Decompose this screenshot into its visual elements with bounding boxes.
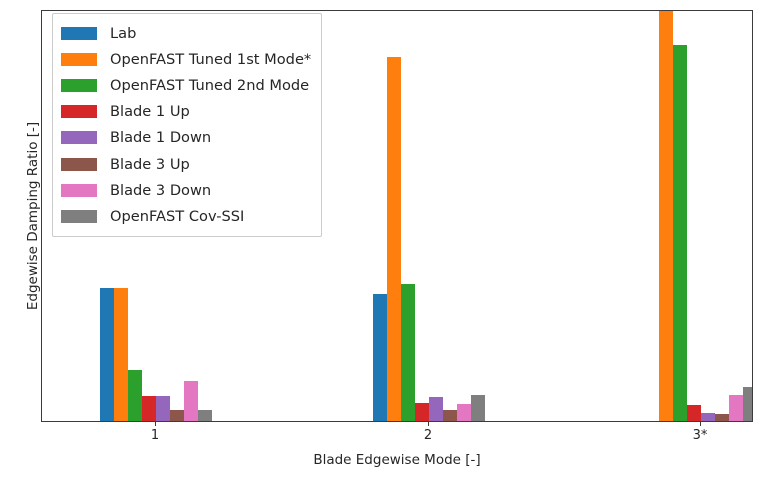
bar xyxy=(128,370,142,421)
legend-label: Blade 3 Up xyxy=(110,156,190,173)
legend-label: Blade 3 Down xyxy=(110,182,211,199)
x-tick-label: 1 xyxy=(125,428,185,443)
bar xyxy=(443,410,457,421)
x-tick-mark xyxy=(700,422,701,426)
bar xyxy=(142,396,156,421)
legend-swatch xyxy=(61,210,97,223)
bar xyxy=(659,11,673,421)
bar xyxy=(687,405,701,421)
legend-label: OpenFAST Tuned 2nd Mode xyxy=(110,77,309,94)
legend-entry: Blade 3 Up xyxy=(61,151,311,177)
legend-label: Blade 1 Up xyxy=(110,103,190,120)
x-tick-mark xyxy=(428,422,429,426)
x-axis-label: Blade Edgewise Mode [-] xyxy=(41,452,753,468)
bar xyxy=(701,413,715,421)
legend-swatch xyxy=(61,158,97,171)
x-tick-label: 2 xyxy=(398,428,458,443)
legend-swatch xyxy=(61,27,97,40)
legend-swatch xyxy=(61,184,97,197)
bar xyxy=(715,414,729,421)
legend-entry: Lab xyxy=(61,20,311,46)
bar xyxy=(429,397,443,421)
bar xyxy=(387,57,401,421)
chart-legend: LabOpenFAST Tuned 1st Mode*OpenFAST Tune… xyxy=(52,13,322,237)
bar xyxy=(156,396,170,421)
bar xyxy=(198,410,212,421)
bar xyxy=(170,410,184,421)
legend-label: OpenFAST Cov-SSI xyxy=(110,208,244,225)
legend-label: OpenFAST Tuned 1st Mode* xyxy=(110,51,311,68)
bar xyxy=(457,404,471,421)
legend-entry: OpenFAST Cov-SSI xyxy=(61,203,311,229)
bar xyxy=(415,403,429,421)
x-tick-mark xyxy=(155,422,156,426)
bar xyxy=(114,288,128,421)
legend-swatch xyxy=(61,105,97,118)
legend-entry: Blade 1 Up xyxy=(61,99,311,125)
bar xyxy=(673,45,687,421)
legend-entry: Blade 1 Down xyxy=(61,125,311,151)
x-tick-label: 3* xyxy=(670,428,730,443)
bar xyxy=(729,395,743,421)
legend-entry: OpenFAST Tuned 1st Mode* xyxy=(61,46,311,72)
legend-label: Lab xyxy=(110,25,136,42)
bar xyxy=(184,381,198,421)
legend-label: Blade 1 Down xyxy=(110,129,211,146)
legend-entry: OpenFAST Tuned 2nd Mode xyxy=(61,72,311,98)
bar xyxy=(471,395,485,421)
legend-swatch xyxy=(61,53,97,66)
bar xyxy=(743,387,752,421)
bar xyxy=(401,284,415,421)
legend-swatch xyxy=(61,131,97,144)
bar xyxy=(100,288,114,421)
legend-entry: Blade 3 Down xyxy=(61,177,311,203)
legend-swatch xyxy=(61,79,97,92)
chart-figure: Edgewise Damping Ratio [-] 123* Blade Ed… xyxy=(0,0,765,477)
bar xyxy=(373,294,387,421)
